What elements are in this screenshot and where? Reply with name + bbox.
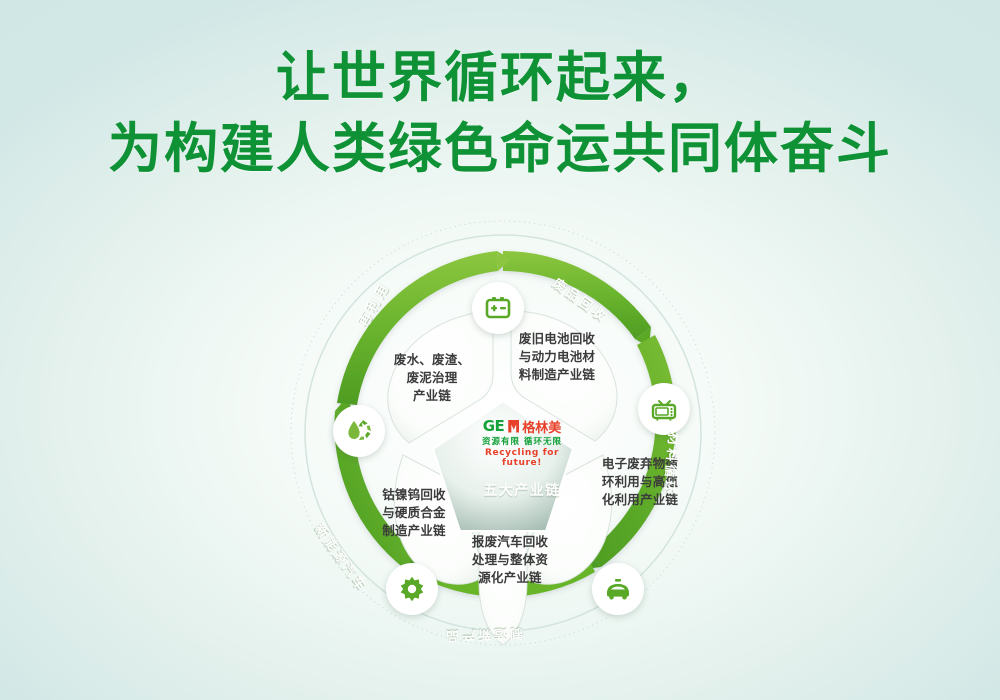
water-recycle-icon-bubble[interactable] <box>333 405 385 457</box>
car-icon-bubble[interactable] <box>592 563 644 615</box>
gem-logo: GE 格林美 资源有限 循环无限 Recycling for future! <box>468 418 576 468</box>
title-line-2: 为构建人类绿色命运共同体奋斗 <box>0 113 1000 184</box>
center-tagline: 五大产业链 <box>468 480 576 500</box>
poster-stage: 让世界循环起来， 为构建人类绿色命运共同体奋斗 <box>0 0 1000 700</box>
segment-label-battery: 废旧电池回收 与动力电池材 料制造产业链 <box>501 330 613 384</box>
tv-icon-bubble[interactable] <box>638 383 690 435</box>
title-line-1: 让世界循环起来， <box>0 42 1000 113</box>
logo-m-mark <box>508 420 519 433</box>
car-icon <box>604 575 632 603</box>
ring-label-manufacture-product: 制造新产品 <box>443 625 524 647</box>
gear-icon-bubble[interactable] <box>386 563 438 615</box>
segment-label-waste-water: 废水、废渣、 废泥治理 产业链 <box>376 351 488 405</box>
battery-icon-bubble[interactable] <box>472 282 524 334</box>
logo-company-name-cn: 格林美 <box>522 417 561 436</box>
logo-top-row: GE 格林美 <box>468 418 576 434</box>
logo-gem-text: GE <box>483 417 505 435</box>
water-recycle-icon <box>344 417 374 445</box>
tv-icon <box>650 395 678 423</box>
logo-slogan-en: Recycling for future! <box>468 448 576 468</box>
segment-label-cobalt-nickel-tungsten: 钴镍钨回收 与硬质合金 制造产业链 <box>366 486 462 540</box>
gear-icon <box>398 575 426 603</box>
logo-slogan-cn: 资源有限 循环无限 <box>468 435 576 447</box>
battery-icon <box>484 294 512 322</box>
page-title: 让世界循环起来， 为构建人类绿色命运共同体奋斗 <box>0 42 1000 185</box>
circular-economy-diagram: 废旧电池回收 与动力电池材 料制造产业链 电子废弃物循 环利用与高值 化利用产业… <box>283 215 723 665</box>
segment-label-end-of-life-vehicle: 报废汽车回收 处理与整体资 源化产业链 <box>460 533 560 587</box>
